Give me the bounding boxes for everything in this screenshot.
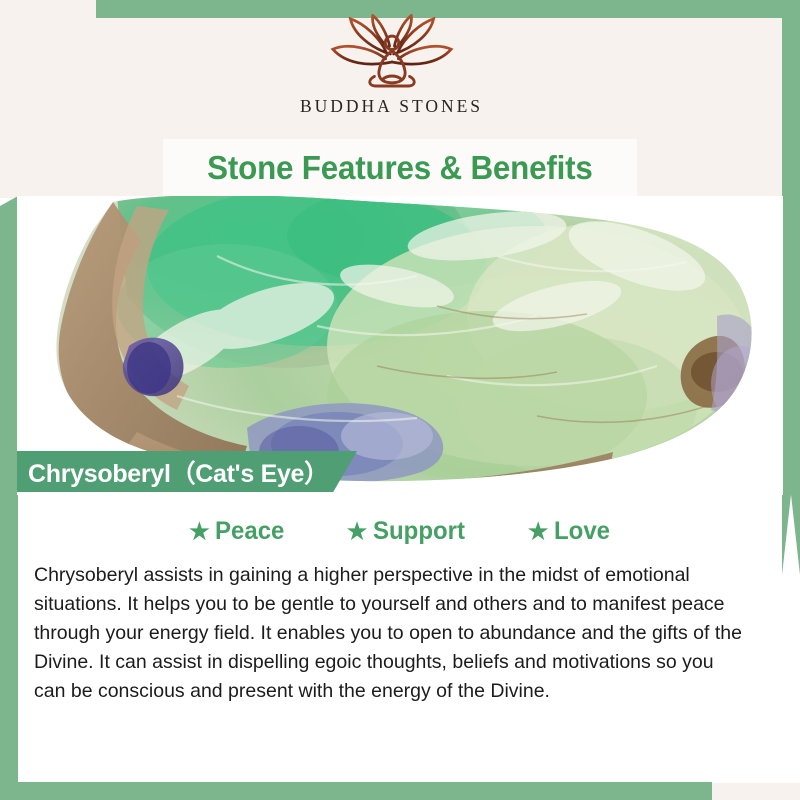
star-icon: ★ bbox=[345, 518, 368, 544]
benefit-label: Peace bbox=[215, 517, 284, 546]
brand-wordmark: BUDDHA STONES bbox=[300, 96, 483, 117]
brand-logo: BUDDHA STONES bbox=[0, 14, 783, 117]
frame-bar-left bbox=[0, 196, 18, 800]
frame-bar-right bbox=[782, 0, 800, 575]
frame-bar-bottom bbox=[0, 782, 712, 800]
infographic-card: BUDDHA STONES Stone Features & Benefits bbox=[0, 0, 800, 800]
benefit-item-support: ★ Support bbox=[345, 517, 468, 546]
title-band: Stone Features & Benefits bbox=[163, 139, 637, 196]
stone-specimen-illustration bbox=[17, 196, 783, 495]
benefit-item-peace: ★ Peace bbox=[188, 517, 288, 546]
star-icon: ★ bbox=[188, 518, 211, 544]
stone-photo bbox=[17, 196, 783, 495]
star-icon: ★ bbox=[527, 518, 550, 544]
description-text: Chrysoberyl assists in gaining a higher … bbox=[34, 561, 750, 706]
page-title: Stone Features & Benefits bbox=[207, 149, 592, 187]
lotus-meditation-figure-icon bbox=[312, 14, 472, 94]
benefits-row: ★ Peace ★ Support ★ Love bbox=[17, 512, 783, 550]
benefit-item-love: ★ Love bbox=[527, 517, 613, 546]
benefit-label: Support bbox=[373, 517, 465, 546]
stone-name-text: Chrysoberyl（Cat's Eye） bbox=[17, 454, 329, 490]
stone-name-label: Chrysoberyl（Cat's Eye） bbox=[17, 451, 357, 492]
benefit-label: Love bbox=[554, 517, 610, 546]
